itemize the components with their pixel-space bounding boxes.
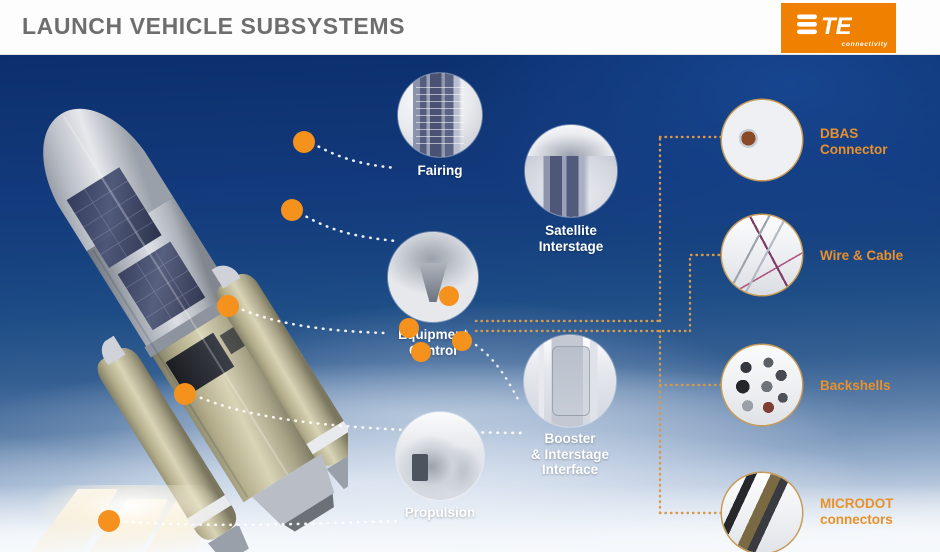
fairing-thumbnail [398,73,482,157]
bubble-booster-interstage[interactable] [524,335,616,427]
line-orange-wire [690,255,724,331]
te-wordmark-icon: TE [797,13,881,37]
label-propulsion: Propulsion [388,505,492,521]
bubble-satellite-interstage[interactable] [525,125,617,217]
page-header: LAUNCH VEHICLE SUBSYSTEMS TE connectivit… [0,0,940,55]
infographic-page: LAUNCH VEHICLE SUBSYSTEMS TE connectivit… [0,0,940,552]
wire-and-cable-thumbnail [722,215,802,295]
label-dbas-connector: DBAS Connector [820,126,940,157]
hotspot-eq-top[interactable] [439,286,459,306]
hotspot-booster[interactable] [174,383,196,405]
bubble-microdot-connectors[interactable] [722,473,802,552]
page-title: LAUNCH VEHICLE SUBSYSTEMS [22,13,405,40]
satellite-interstage-thumbnail [525,125,617,217]
bubble-dbas-connector[interactable] [722,100,802,180]
label-wire-and-cable: Wire & Cable [820,248,940,264]
te-connectivity-logo[interactable]: TE connectivity [781,3,896,53]
label-booster-interstage: Booster & Interstage Interface [512,431,628,478]
equipment-control-thumbnail [388,232,478,322]
propulsion-thumbnail [396,412,484,500]
label-backshells: Backshells [820,378,940,394]
label-fairing: Fairing [390,163,490,179]
bubble-backshells[interactable] [722,345,802,425]
svg-text:TE: TE [821,13,853,37]
bubble-propulsion[interactable] [396,412,484,500]
backshells-thumbnail [722,345,802,425]
dbas-connector-thumbnail [722,100,802,180]
hotspot-fairing[interactable] [293,131,315,153]
bubble-fairing[interactable] [398,73,482,157]
illustration-canvas: Fairing Satellite Interstage Equipment C… [0,55,940,552]
te-logo-tagline: connectivity [781,41,888,48]
microdot-connectors-thumbnail [722,473,802,552]
hotspot-propulsion[interactable] [98,510,120,532]
label-microdot-connectors: MICRODOT connectors [820,496,940,527]
bubble-equipment-control[interactable] [388,232,478,322]
hotspot-eq-bottom[interactable] [411,342,431,362]
booster-interstage-thumbnail [524,335,616,427]
hotspot-eq-left[interactable] [399,318,419,338]
bubble-wire-and-cable[interactable] [722,215,802,295]
hotspot-interstage[interactable] [281,199,303,221]
label-satellite-interstage: Satellite Interstage [519,223,623,254]
hotspot-eq-right[interactable] [452,331,472,351]
hotspot-equipment[interactable] [217,295,239,317]
